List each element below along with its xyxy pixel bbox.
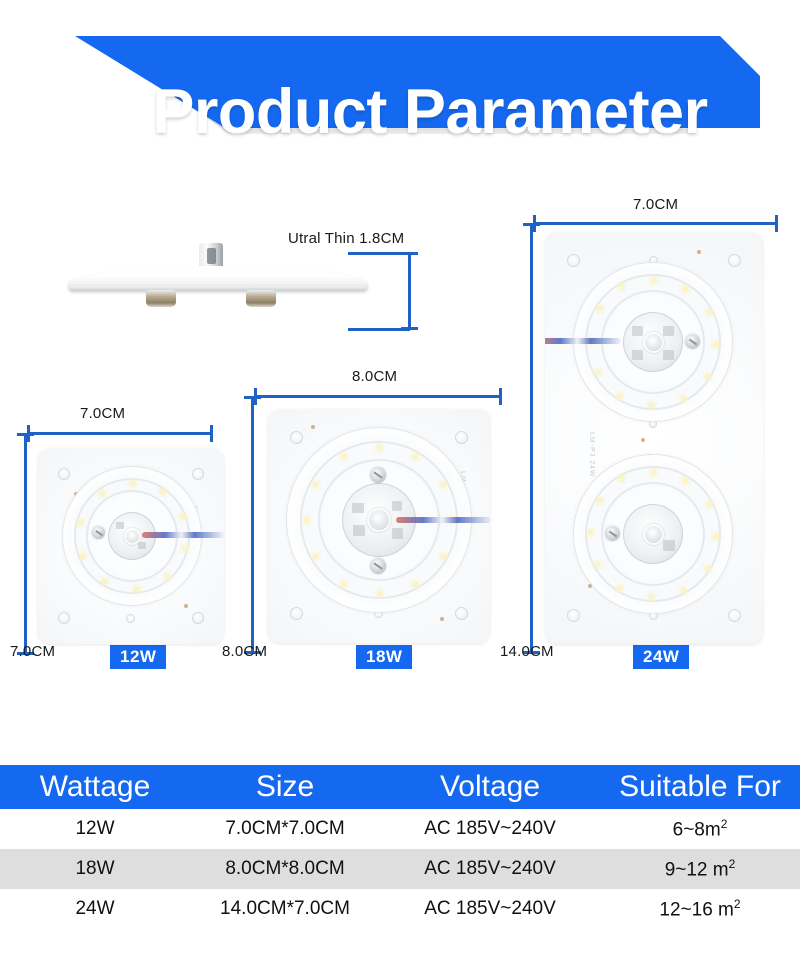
screw-icon — [685, 334, 700, 349]
specification-table: Wattage Size Voltage Suitable For 12W 7.… — [0, 765, 800, 929]
driver-chip — [632, 350, 643, 360]
center-mount — [124, 528, 141, 545]
led-panel-12w: LM-PJ 12W — [38, 448, 224, 644]
panel-24w-width-dimension — [533, 222, 778, 225]
suitable-unit-exponent: 2 — [721, 817, 728, 831]
mount-hole — [192, 612, 204, 624]
led-module — [573, 454, 733, 614]
led-chip — [683, 478, 688, 483]
panel-12w-height-label: 7.0CM — [10, 643, 55, 660]
column-header-size: Size — [190, 765, 380, 809]
screw-icon — [605, 526, 620, 541]
power-wire — [545, 338, 621, 344]
column-header-wattage: Wattage — [0, 765, 190, 809]
mount-hole — [290, 431, 303, 444]
thickness-label: Utral Thin 1.8CM — [288, 230, 404, 247]
cell-size: 7.0CM*7.0CM — [190, 809, 380, 849]
led-chip — [707, 502, 712, 507]
led-chip — [681, 588, 686, 593]
led-chip — [649, 403, 654, 408]
led-chip — [595, 562, 600, 567]
pcb-marker — [184, 604, 188, 608]
mount-hole — [58, 468, 70, 480]
led-chip — [651, 278, 656, 283]
led-chip — [597, 498, 602, 503]
cell-voltage: AC 185V~240V — [380, 849, 600, 889]
table-row: 24W 14.0CM*7.0CM AC 185V~240V 12~16 m2 — [0, 889, 800, 929]
mount-hole — [290, 607, 303, 620]
panel-12w-width-label: 7.0CM — [80, 405, 125, 422]
driver-chip — [116, 522, 124, 529]
panel-18w-width-dimension — [254, 395, 502, 398]
led-chip — [165, 574, 170, 579]
driver-chip — [632, 326, 643, 336]
silkscreen-text: LM-PJ 24W — [588, 432, 595, 478]
mount-hole — [58, 612, 70, 624]
led-chip — [707, 310, 712, 315]
mount-hole — [728, 609, 741, 622]
led-driver-hub — [623, 504, 683, 564]
pcb-marker — [440, 617, 444, 621]
suitable-value: 6~8m — [673, 819, 721, 840]
mount-hole — [455, 607, 468, 620]
power-wire — [396, 517, 490, 523]
magnet-mount-icon — [246, 290, 276, 307]
led-chip — [160, 489, 165, 494]
mount-hole — [192, 468, 204, 480]
led-chip — [102, 579, 107, 584]
cell-wattage: 18W — [0, 849, 190, 889]
panel-18w-width-label: 8.0CM — [352, 368, 397, 385]
thickness-dimension-line — [408, 252, 411, 330]
center-mount — [367, 508, 391, 532]
driver-chip — [663, 540, 675, 551]
page-header-banner: Product Parameter — [0, 36, 800, 146]
led-chip — [413, 454, 418, 459]
page-title: Product Parameter — [110, 72, 750, 152]
cell-suitable-for: 9~12 m2 — [600, 849, 800, 889]
led-chip — [313, 554, 318, 559]
pcb-marker — [311, 425, 315, 429]
driver-chip — [392, 528, 403, 539]
led-chip — [683, 286, 688, 291]
panel-12w-wattage-badge: 12W — [110, 645, 166, 669]
led-chip — [588, 530, 593, 535]
panel-24w-wattage-badge: 24W — [633, 645, 689, 669]
pcb-marker — [697, 250, 701, 254]
led-chip — [617, 394, 622, 399]
product-showcase: Utral Thin 1.8CM 7.0CM 7.0CM 12W LM-PJ 1… — [0, 160, 800, 760]
driver-chip — [663, 326, 674, 336]
table-header-row: Wattage Size Voltage Suitable For — [0, 765, 800, 809]
panel-24w-height-label: 14.0CM — [500, 643, 554, 660]
led-chip — [705, 566, 710, 571]
led-chip — [441, 554, 446, 559]
suitable-value: 12~16 m — [659, 899, 733, 920]
mount-hole — [455, 431, 468, 444]
led-chip — [714, 342, 719, 347]
led-panel-24w: LM-PJ 24W LM-PJ 24W — [545, 232, 763, 644]
cell-wattage: 24W — [0, 889, 190, 929]
led-chip — [651, 470, 656, 475]
led-chip — [313, 482, 318, 487]
led-chip — [413, 582, 418, 587]
led-chip — [681, 396, 686, 401]
center-mount — [643, 332, 664, 353]
screw-icon — [370, 467, 386, 483]
panel-18w-height-dimension — [251, 396, 254, 654]
driver-chip — [663, 350, 674, 360]
cell-voltage: AC 185V~240V — [380, 889, 600, 929]
led-chip — [78, 520, 83, 525]
screw-icon — [370, 558, 386, 574]
panel-24w-height-dimension — [530, 223, 533, 654]
led-chip — [619, 476, 624, 481]
led-chip — [341, 454, 346, 459]
led-chip — [180, 514, 185, 519]
mount-hole — [728, 254, 741, 267]
product-side-view — [68, 238, 368, 318]
led-chip — [130, 481, 135, 486]
led-chip — [341, 582, 346, 587]
center-mount — [643, 524, 664, 545]
led-chip — [304, 518, 309, 523]
driver-chip — [352, 503, 364, 513]
cell-suitable-for: 6~8m2 — [600, 809, 800, 849]
led-chip — [134, 587, 139, 592]
led-panel-18w: LM-PJ 18W — [268, 409, 490, 643]
cell-wattage: 12W — [0, 809, 190, 849]
pcb-marker — [641, 438, 645, 442]
column-header-suitablefor: Suitable For — [600, 765, 800, 809]
led-chip — [714, 534, 719, 539]
cell-voltage: AC 185V~240V — [380, 809, 600, 849]
suitable-unit-exponent: 2 — [734, 897, 741, 911]
driver-chip — [392, 501, 402, 511]
table-row: 18W 8.0CM*8.0CM AC 185V~240V 9~12 m2 — [0, 849, 800, 889]
mount-hole — [126, 614, 135, 623]
cell-size: 8.0CM*8.0CM — [190, 849, 380, 889]
cell-size: 14.0CM*7.0CM — [190, 889, 380, 929]
led-chip — [705, 374, 710, 379]
magnet-mount-icon — [146, 290, 176, 307]
suitable-value: 9~12 m — [665, 859, 729, 880]
side-view-plate-edge — [70, 286, 366, 291]
panel-12w-height-dimension — [24, 433, 27, 655]
column-header-voltage: Voltage — [380, 765, 600, 809]
driver-chip — [138, 542, 146, 549]
panel-18w-height-label: 8.0CM — [222, 643, 267, 660]
led-chip — [80, 554, 85, 559]
driver-chip — [353, 525, 365, 536]
led-chip — [649, 595, 654, 600]
panel-18w-wattage-badge: 18W — [356, 645, 412, 669]
led-chip — [595, 370, 600, 375]
led-chip — [377, 591, 382, 596]
led-chip — [441, 482, 446, 487]
panel-12w-width-dimension — [27, 432, 213, 435]
cell-suitable-for: 12~16 m2 — [600, 889, 800, 929]
led-driver-hub — [623, 312, 683, 372]
led-chip — [100, 491, 105, 496]
led-chip — [377, 445, 382, 450]
led-chip — [597, 306, 602, 311]
led-chip — [619, 284, 624, 289]
led-chip — [617, 586, 622, 591]
suitable-unit-exponent: 2 — [729, 857, 736, 871]
mount-hole — [567, 609, 580, 622]
mount-hole — [567, 254, 580, 267]
screw-icon — [92, 526, 105, 539]
table-row: 12W 7.0CM*7.0CM AC 185V~240V 6~8m2 — [0, 809, 800, 849]
power-wire — [142, 532, 224, 538]
panel-24w-width-label: 7.0CM — [633, 196, 678, 213]
led-chip — [183, 546, 188, 551]
